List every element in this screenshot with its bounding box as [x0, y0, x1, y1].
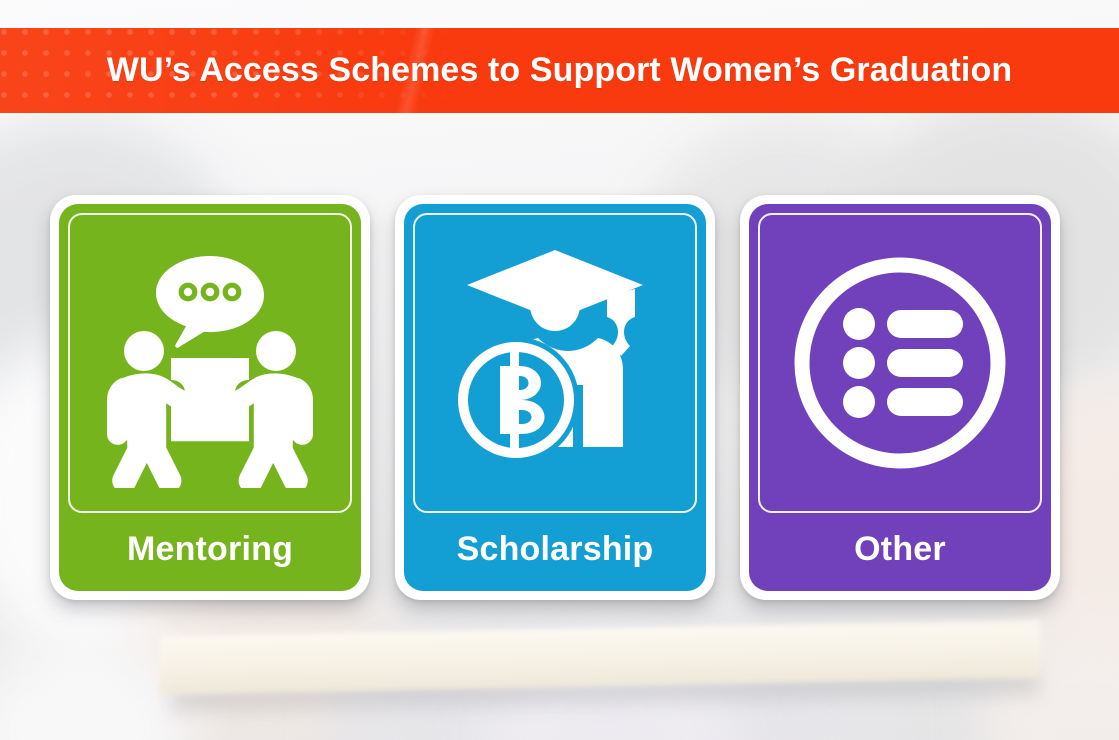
mentoring-people-puzzle-icon	[85, 238, 335, 488]
card-other-icon-frame	[758, 213, 1042, 513]
card-other-label: Other	[749, 513, 1051, 591]
graduate-baht-coin-icon	[430, 238, 680, 488]
card-mentoring-label: Mentoring	[59, 513, 361, 591]
card-scholarship-label: Scholarship	[404, 513, 706, 591]
card-scholarship-body: Scholarship	[404, 204, 706, 591]
card-scholarship[interactable]: Scholarship	[395, 195, 715, 600]
page-title: WU’s Access Schemes to Support Women’s G…	[0, 28, 1119, 113]
slide-root: WU’s Access Schemes to Support Women’s G…	[0, 0, 1119, 740]
header-band: WU’s Access Schemes to Support Women’s G…	[0, 28, 1119, 113]
card-scholarship-icon-frame	[413, 213, 697, 513]
card-mentoring[interactable]: Mentoring	[50, 195, 370, 600]
card-mentoring-body: Mentoring	[59, 204, 361, 591]
card-mentoring-icon-frame	[68, 213, 352, 513]
card-other-body: Other	[749, 204, 1051, 591]
card-other[interactable]: Other	[740, 195, 1060, 600]
bullet-list-circle-icon	[789, 252, 1011, 474]
